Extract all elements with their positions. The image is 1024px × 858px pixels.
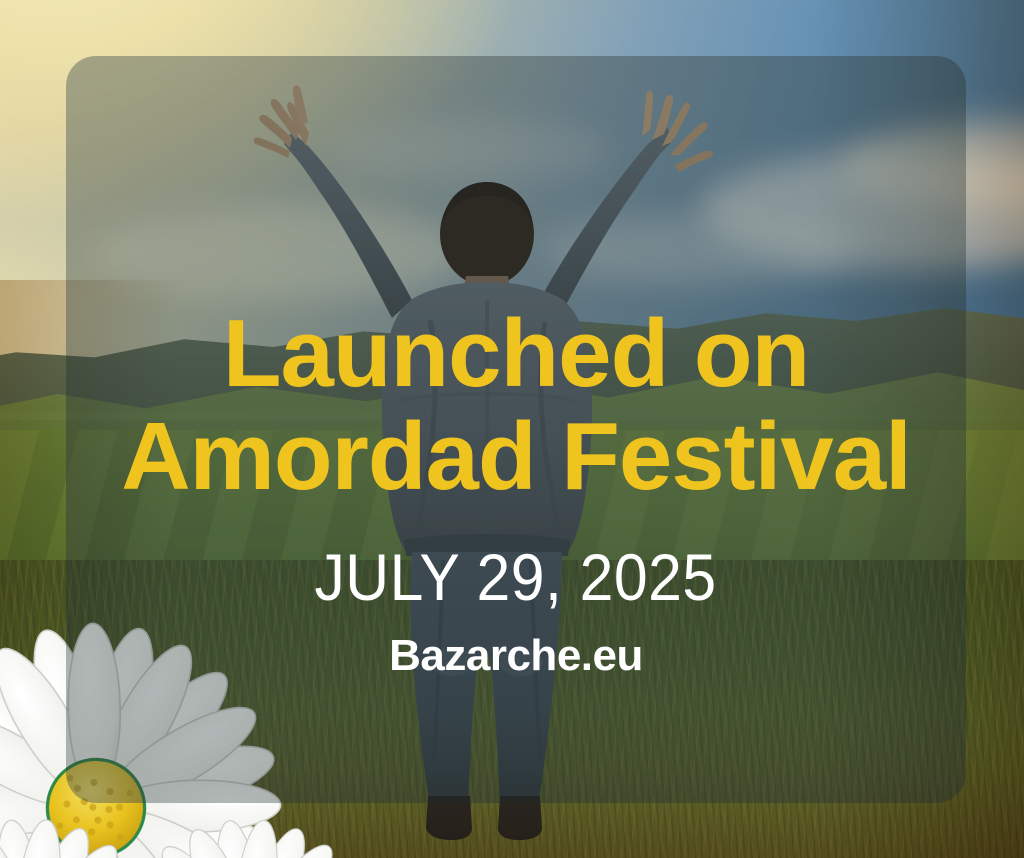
- poster-content: Launched on Amordad Festival JULY 29, 20…: [66, 56, 966, 803]
- website-url[interactable]: Bazarche.eu: [389, 634, 643, 678]
- event-date: JULY 29, 2025: [315, 544, 717, 610]
- page-title: Launched on Amordad Festival: [121, 56, 911, 508]
- poster-canvas: Launched on Amordad Festival JULY 29, 20…: [0, 0, 1024, 858]
- headline-line-1: Launched on: [121, 304, 911, 405]
- headline-line-2: Amordad Festival: [121, 407, 911, 508]
